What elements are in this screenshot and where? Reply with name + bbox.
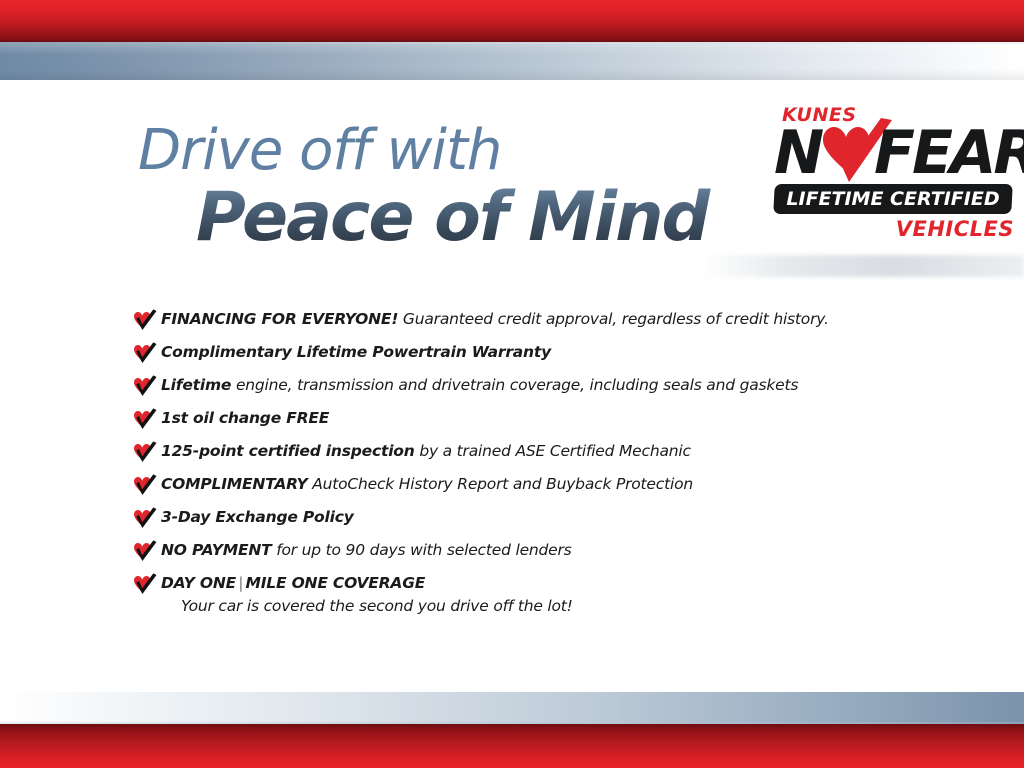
heart-check-bullet-icon xyxy=(131,375,157,397)
heart-check-bullet-icon xyxy=(131,342,157,364)
list-item-rest: engine, transmission and drivetrain cove… xyxy=(231,376,798,394)
promo-page: Drive off with Peace of Mind KUNES N FEA… xyxy=(0,0,1024,768)
headline-line-one: Drive off with xyxy=(138,122,758,180)
list-item-rest: for up to 90 days with selected lenders xyxy=(271,541,571,559)
list-item-bold: 125-point certified inspection xyxy=(161,442,415,460)
top-red-banner xyxy=(0,0,1024,42)
headline-line-two: Peace of Mind xyxy=(196,182,758,254)
list-item: FINANCING FOR EVERYONE! Guaranteed credi… xyxy=(131,308,931,331)
list-item-rest: Guaranteed credit approval, regardless o… xyxy=(398,310,829,328)
list-item-text: 3-Day Exchange Policy xyxy=(161,506,354,528)
heart-check-bullet-icon xyxy=(131,408,157,430)
list-item-bold-secondary: MILE ONE COVERAGE xyxy=(246,574,426,592)
bottom-red-banner xyxy=(0,724,1024,768)
list-item-text: Complimentary Lifetime Powertrain Warran… xyxy=(161,341,551,363)
list-item-subtext: Your car is covered the second you drive… xyxy=(181,595,573,617)
list-item-text: NO PAYMENT for up to 90 days with select… xyxy=(161,539,572,561)
list-item-text: 1st oil change FREE xyxy=(161,407,329,429)
list-item: NO PAYMENT for up to 90 days with select… xyxy=(131,539,931,562)
list-item-bold: COMPLIMENTARY xyxy=(161,475,307,493)
logo-no-fear-wordmark: N FEAR xyxy=(774,122,1016,184)
list-item: DAY ONE|MILE ONE COVERAGE Your car is co… xyxy=(131,572,931,617)
heart-check-bullet-icon xyxy=(131,573,157,595)
top-gray-band-shading xyxy=(0,44,1024,80)
heart-check-bullet-icon xyxy=(131,441,157,463)
list-item-text: 125-point certified inspection by a trai… xyxy=(161,440,691,462)
list-item: Complimentary Lifetime Powertrain Warran… xyxy=(131,341,931,364)
list-item-text: COMPLIMENTARY AutoCheck History Report a… xyxy=(161,473,693,495)
list-item-bold: Lifetime xyxy=(161,376,231,394)
logo-fear-wordmark: FEAR xyxy=(874,122,1024,184)
list-item-rest: AutoCheck History Report and Buyback Pro… xyxy=(307,475,693,493)
list-item-separator: | xyxy=(236,574,245,592)
list-item-bold: 3-Day Exchange Policy xyxy=(161,508,354,526)
list-item: Lifetime engine, transmission and drivet… xyxy=(131,374,931,397)
list-item-text: DAY ONE|MILE ONE COVERAGE Your car is co… xyxy=(161,572,573,617)
list-item-rest: by a trained ASE Certified Mechanic xyxy=(415,442,691,460)
headline-block: Drive off with Peace of Mind xyxy=(138,122,758,254)
list-item: 1st oil change FREE xyxy=(131,407,931,430)
list-item-text: Lifetime engine, transmission and drivet… xyxy=(161,374,798,396)
list-item-bold: DAY ONE xyxy=(161,574,236,592)
headline-separator-band xyxy=(700,255,1024,277)
heart-check-bullet-icon xyxy=(131,474,157,496)
list-item: COMPLIMENTARY AutoCheck History Report a… xyxy=(131,473,931,496)
benefits-list: FINANCING FOR EVERYONE! Guaranteed credi… xyxy=(131,308,931,617)
logo-vehicles-wordmark: VEHICLES xyxy=(896,218,1014,240)
kunes-no-fear-logo: KUNES N FEAR LIFETIME CERTIFIED VEHICLES xyxy=(766,106,1016,244)
list-item: 3-Day Exchange Policy xyxy=(131,506,931,529)
list-item-bold: Complimentary Lifetime Powertrain Warran… xyxy=(161,343,551,361)
heart-check-bullet-icon xyxy=(131,540,157,562)
list-item-bold: 1st oil change FREE xyxy=(161,409,329,427)
list-item: 125-point certified inspection by a trai… xyxy=(131,440,931,463)
heart-check-bullet-icon xyxy=(131,507,157,529)
list-item-bold: NO PAYMENT xyxy=(161,541,271,559)
bottom-gray-gradient-band xyxy=(0,692,1024,722)
list-item-bold: FINANCING FOR EVERYONE! xyxy=(161,310,398,328)
logo-certified-band-text: LIFETIME CERTIFIED xyxy=(774,184,1012,214)
list-item-text: FINANCING FOR EVERYONE! Guaranteed credi… xyxy=(161,308,829,330)
heart-check-bullet-icon xyxy=(131,309,157,331)
